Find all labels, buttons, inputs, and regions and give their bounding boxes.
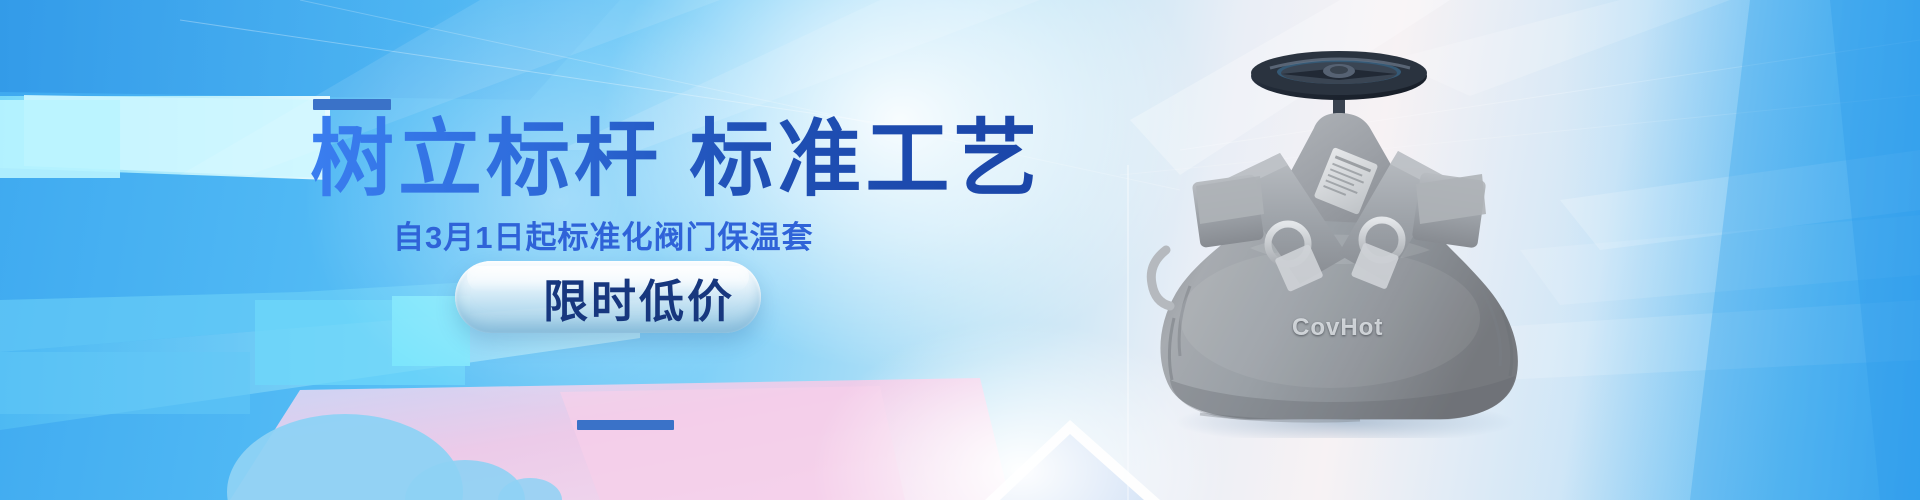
cta-button-label: 限时低价 bbox=[481, 265, 735, 330]
valve-insulation-jacket-illustration bbox=[1130, 18, 1560, 438]
bottom-rule-decoration bbox=[577, 420, 674, 430]
jacket-hanging-loop bbox=[1151, 250, 1170, 306]
promo-banner: 树立标杆 标准工艺 自3月1日起标准化阀门保温套 限时低价 bbox=[0, 0, 1920, 500]
headline: 树立标杆 标准工艺 bbox=[310, 112, 1041, 206]
subheadline: 自3月1日起标准化阀门保温套 bbox=[393, 212, 813, 257]
product-image: CovHot bbox=[1130, 18, 1560, 438]
top-rule-decoration bbox=[313, 99, 391, 110]
valve-handwheel bbox=[1251, 51, 1427, 100]
copy-block: 树立标杆 标准工艺 自3月1日起标准化阀门保温套 限时低价 bbox=[0, 0, 1000, 500]
limited-time-price-button[interactable]: 限时低价 bbox=[455, 261, 761, 333]
